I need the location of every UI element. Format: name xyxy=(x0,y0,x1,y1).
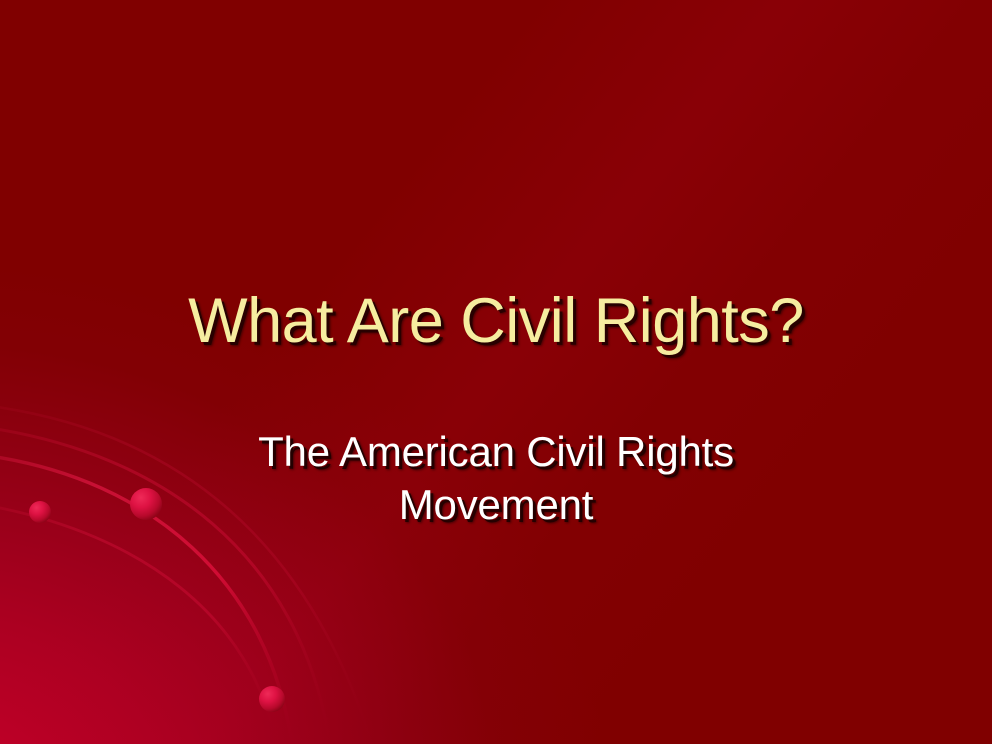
slide-subtitle-line-2: Movement xyxy=(196,479,796,532)
slide-subtitle: The American Civil Rights Movement xyxy=(196,426,796,532)
background-sheen xyxy=(0,0,992,744)
presentation-slide: What Are Civil Rights? The American Civi… xyxy=(0,0,992,744)
slide-subtitle-line-1: The American Civil Rights xyxy=(196,426,796,479)
slide-title: What Are Civil Rights? xyxy=(0,288,992,355)
